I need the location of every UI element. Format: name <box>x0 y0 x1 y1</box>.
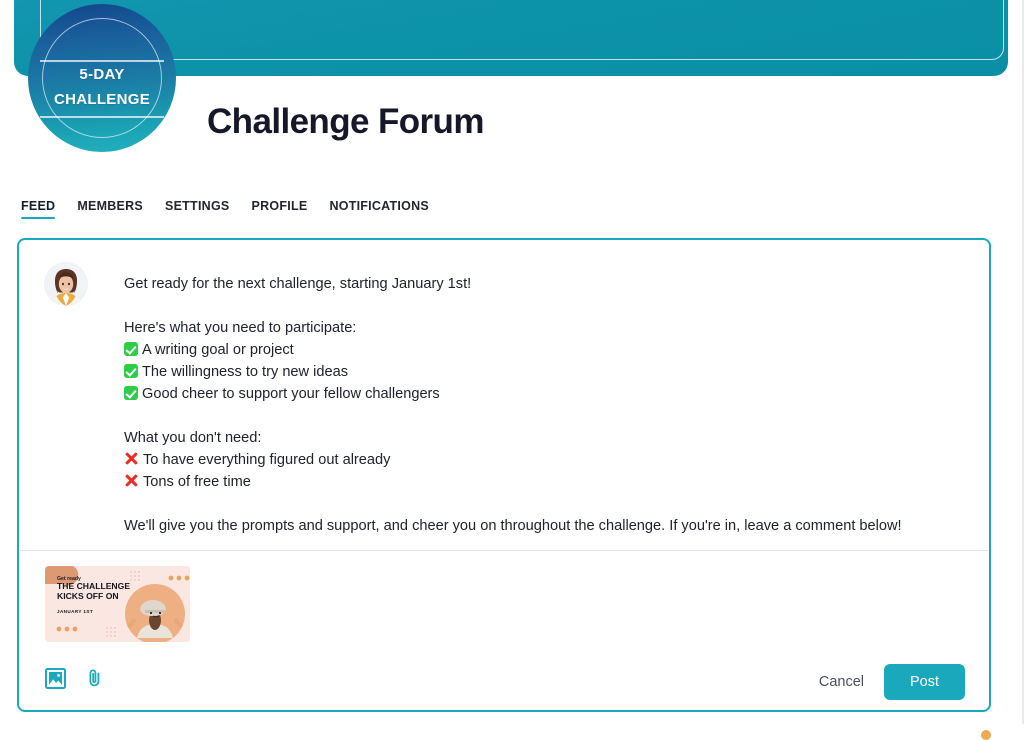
composer-actions: Cancel Post <box>815 664 965 700</box>
cross-icon <box>124 451 139 466</box>
composer-divider <box>20 550 988 551</box>
need-heading: Here's what you need to participate: <box>124 317 963 339</box>
badge-line-2: CHALLENGE <box>28 87 176 112</box>
need-item-0: A writing goal or project <box>124 339 963 361</box>
tab-feed[interactable]: FEED <box>21 199 55 219</box>
badge-line-1: 5-DAY <box>28 62 176 87</box>
badge-text: 5-DAY CHALLENGE <box>28 62 176 112</box>
spacer <box>124 493 963 515</box>
svg-text:JANUARY 1ST: JANUARY 1ST <box>57 609 93 614</box>
avatar <box>44 262 88 306</box>
spacer <box>124 295 963 317</box>
tab-settings[interactable]: SETTINGS <box>165 199 230 219</box>
need-item-1-label: The willingness to try new ideas <box>142 364 348 380</box>
svg-text:KICKS OFF ON: KICKS OFF ON <box>57 591 119 601</box>
check-icon <box>124 386 138 400</box>
tab-members[interactable]: MEMBERS <box>77 199 143 219</box>
post-text-content[interactable]: Get ready for the next challenge, starti… <box>124 273 963 537</box>
post-closing: We'll give you the prompts and support, … <box>124 515 963 537</box>
cancel-button[interactable]: Cancel <box>815 668 868 696</box>
dont-need-item-0: To have everything figured out already <box>124 449 963 471</box>
post-line-intro: Get ready for the next challenge, starti… <box>124 273 963 295</box>
attachment-thumbnail[interactable]: Get ready THE CHALLENGE KICKS OFF ON JAN… <box>45 566 190 642</box>
paperclip-icon[interactable] <box>84 668 105 689</box>
post-composer-card[interactable]: Get ready for the next challenge, starti… <box>17 238 991 712</box>
profile-banner: 5-DAY CHALLENGE <box>0 0 1024 150</box>
composer-toolbar <box>45 668 105 689</box>
challenge-badge: 5-DAY CHALLENGE <box>28 4 176 152</box>
need-item-0-label: A writing goal or project <box>142 342 294 358</box>
check-icon <box>124 342 138 356</box>
dont-need-item-1: Tons of free time <box>124 471 963 493</box>
dont-need-heading: What you don't need: <box>124 427 963 449</box>
need-item-1: The willingness to try new ideas <box>124 361 963 383</box>
cross-icon <box>124 473 139 488</box>
spacer <box>124 405 963 427</box>
tab-profile[interactable]: PROFILE <box>252 199 308 219</box>
check-icon <box>124 364 138 378</box>
need-item-2: Good cheer to support your fellow challe… <box>124 383 963 405</box>
page-title: Challenge Forum <box>207 102 484 142</box>
composer-body: Get ready for the next challenge, starti… <box>19 240 989 546</box>
cursor-indicator <box>981 730 991 740</box>
dont-need-item-1-label: Tons of free time <box>143 474 251 490</box>
dont-need-item-0-label: To have everything figured out already <box>143 452 390 468</box>
image-icon[interactable] <box>45 668 66 689</box>
need-item-2-label: Good cheer to support your fellow challe… <box>142 386 440 402</box>
tab-notifications[interactable]: NOTIFICATIONS <box>329 199 429 219</box>
badge-rule-bottom <box>40 116 164 118</box>
svg-text:THE CHALLENGE: THE CHALLENGE <box>57 581 130 591</box>
primary-tabs: FEED MEMBERS SETTINGS PROFILE NOTIFICATI… <box>21 199 429 219</box>
banner-inner-outline <box>40 0 1004 60</box>
post-button[interactable]: Post <box>884 664 965 700</box>
